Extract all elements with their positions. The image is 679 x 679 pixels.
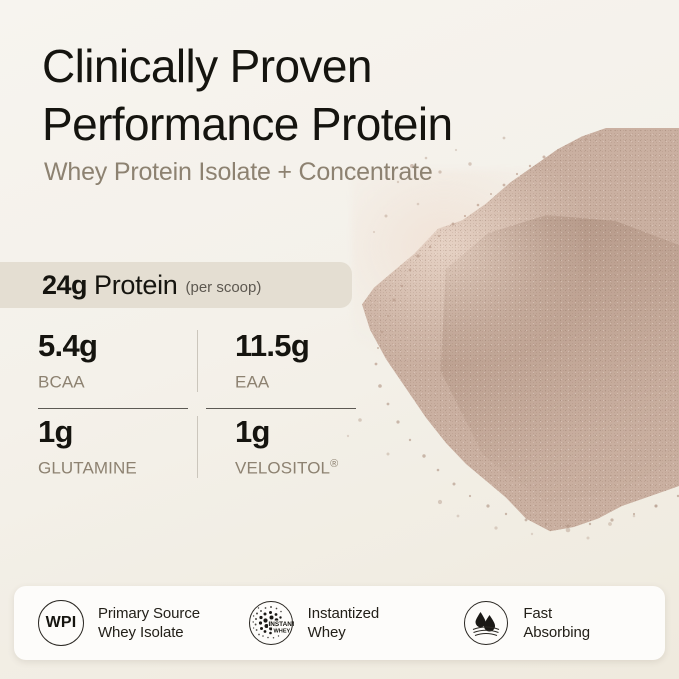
feature-line-2: Whey Isolate xyxy=(98,623,200,642)
nutrient-label: VELOSITOL® xyxy=(235,452,356,481)
nutrient-label-text: EAA xyxy=(235,373,269,392)
protein-amount: 24g xyxy=(42,270,87,301)
feature-badge-bar: WPI Primary Source Whey Isolate xyxy=(14,586,665,660)
nutrient-row: 5.4g BCAA 11.5g EAA xyxy=(38,328,356,395)
svg-text:WHEY: WHEY xyxy=(273,628,290,634)
feature-fast-absorbing: Fast Absorbing xyxy=(449,600,665,646)
feature-line-1: Instantized xyxy=(308,604,379,623)
instant-whey-burst-icon: INSTANT WHEY xyxy=(248,600,294,646)
powder-shadow-fold xyxy=(430,215,679,515)
feature-instantized-whey: INSTANT WHEY Instantized Whey xyxy=(240,600,450,646)
nutrient-horizontal-dividers xyxy=(38,408,356,409)
subtitle: Whey Protein Isolate + Concentrate xyxy=(44,156,433,188)
nutrient-value: 11.5g xyxy=(235,328,356,364)
nutrient-cell-bcaa: 5.4g BCAA xyxy=(38,328,197,395)
product-feature-graphic: Clinically Proven Performance Protein Wh… xyxy=(0,0,679,679)
nutrient-divider-left xyxy=(38,408,188,409)
feature-label: Primary Source Whey Isolate xyxy=(98,604,200,642)
feature-line-1: Fast xyxy=(523,604,590,623)
nutrient-value: 1g xyxy=(38,414,197,450)
nutrient-value: 5.4g xyxy=(38,328,197,364)
nutrient-label: BCAA xyxy=(38,366,197,395)
protein-callout-badge: 24g Protein (per scoop) xyxy=(0,262,352,308)
nutrient-label: GLUTAMINE xyxy=(38,452,197,481)
protein-serving-note: (per scoop) xyxy=(185,279,261,296)
nutrient-breakdown-grid: 5.4g BCAA 11.5g EAA 1g GLUTAMINE 1g VELO… xyxy=(38,328,356,480)
nutrient-value: 1g xyxy=(235,414,356,450)
wpi-badge-icon: WPI xyxy=(38,600,84,646)
nutrient-label: EAA xyxy=(235,366,356,395)
powder-highlight xyxy=(352,170,582,360)
feature-line-2: Whey xyxy=(308,623,379,642)
powder-mound-shape xyxy=(318,128,679,548)
nutrient-divider-right xyxy=(206,408,356,409)
nutrient-cell-eaa: 11.5g EAA xyxy=(197,328,356,395)
nutrient-vertical-divider xyxy=(197,416,198,478)
nutrient-cell-glutamine: 1g GLUTAMINE xyxy=(38,414,197,481)
powder-edge-particles xyxy=(318,128,679,548)
headline-line-2: Performance Protein xyxy=(42,95,562,153)
svg-text:INSTANT: INSTANT xyxy=(268,621,294,628)
page-title: Clinically Proven Performance Protein xyxy=(42,37,562,153)
nutrient-cell-velositol: 1g VELOSITOL® xyxy=(197,414,356,481)
nutrient-vertical-divider xyxy=(197,330,198,392)
water-droplet-absorb-icon xyxy=(463,600,509,646)
nutrient-label-text: BCAA xyxy=(38,373,85,392)
nutrient-row: 1g GLUTAMINE 1g VELOSITOL® xyxy=(38,414,356,481)
powder-grain-texture xyxy=(318,128,679,548)
registered-mark: ® xyxy=(330,458,338,470)
feature-label: Instantized Whey xyxy=(308,604,379,642)
feature-line-2: Absorbing xyxy=(523,623,590,642)
protein-label: Protein xyxy=(94,270,177,301)
nutrient-label-text: GLUTAMINE xyxy=(38,458,137,477)
feature-label: Fast Absorbing xyxy=(523,604,590,642)
feature-primary-source: WPI Primary Source Whey Isolate xyxy=(14,600,240,646)
feature-line-1: Primary Source xyxy=(98,604,200,623)
headline-line-1: Clinically Proven xyxy=(42,37,562,95)
nutrient-label-text: VELOSITOL xyxy=(235,458,330,477)
